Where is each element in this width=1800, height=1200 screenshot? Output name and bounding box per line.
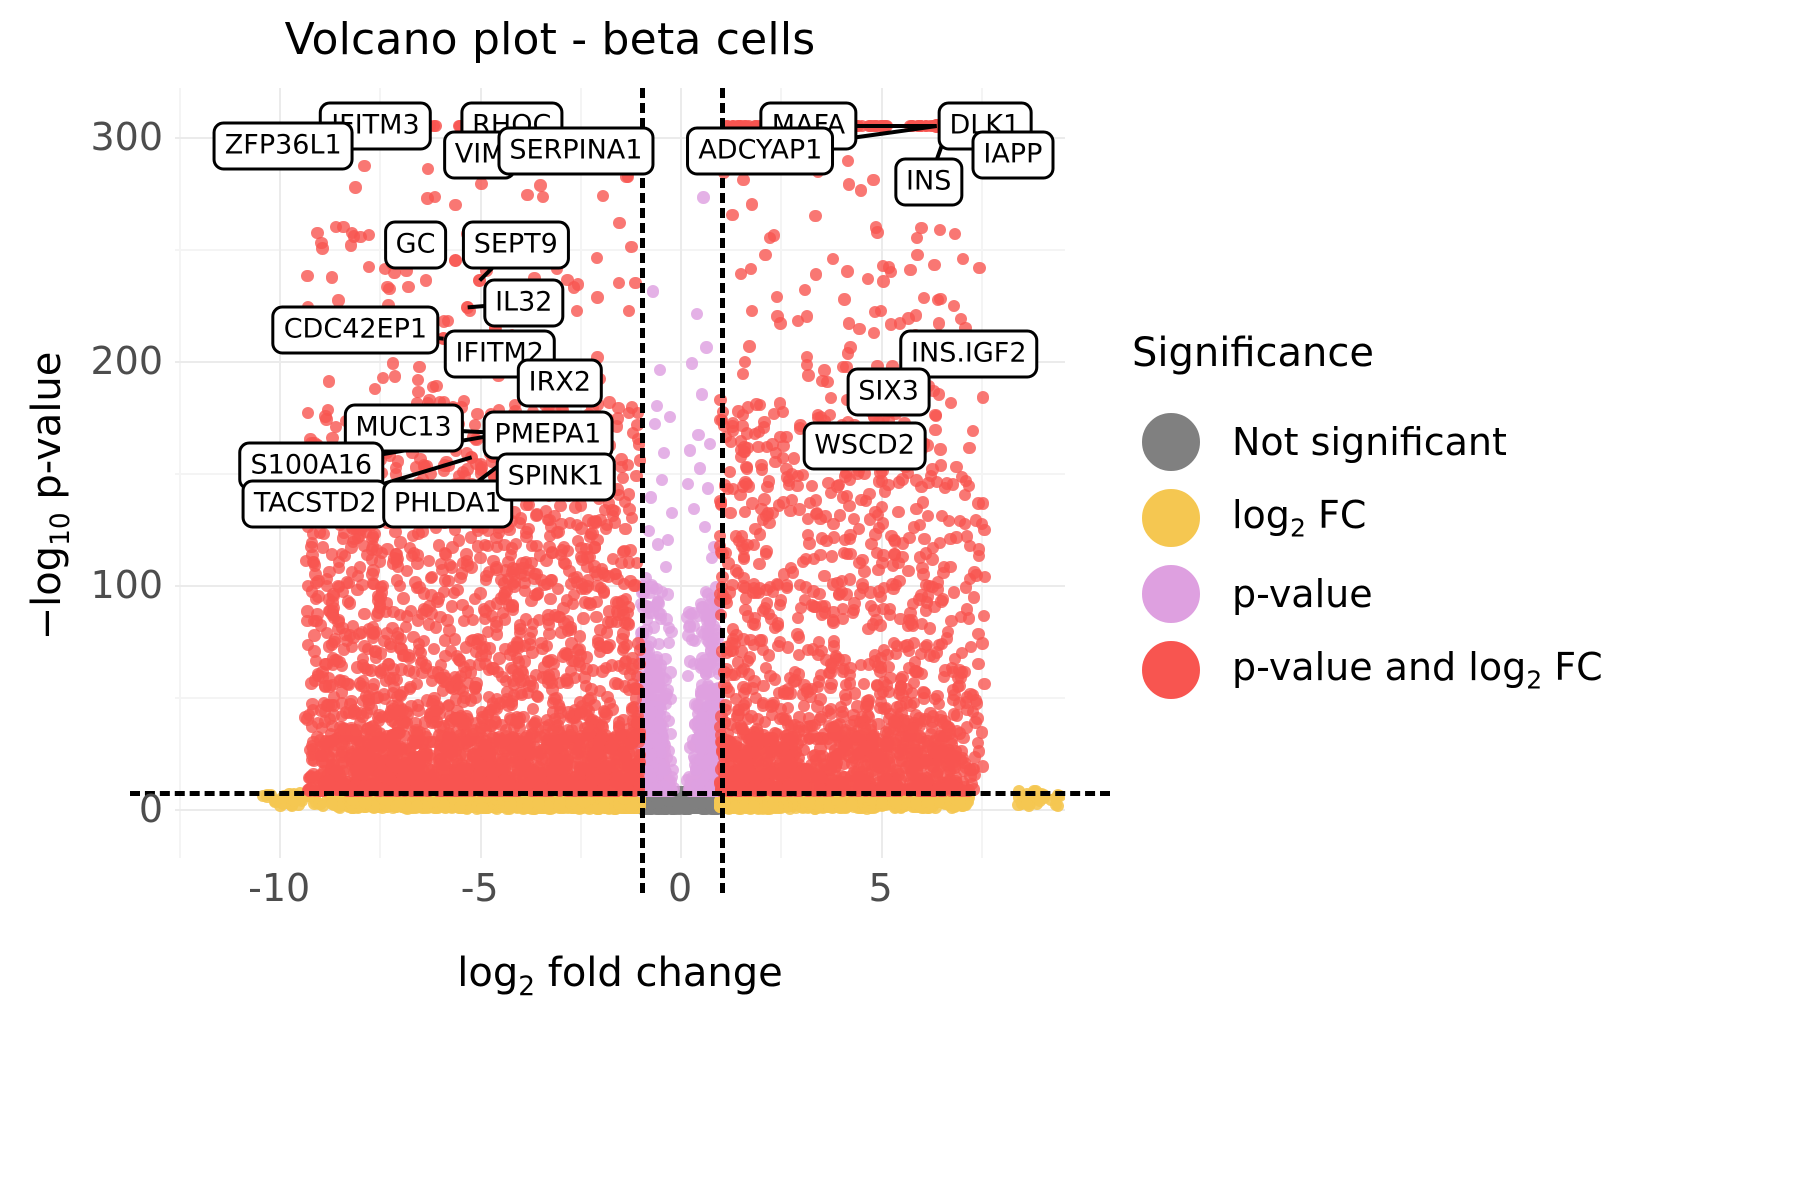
plot-panel bbox=[175, 88, 1065, 858]
gridline bbox=[175, 361, 1065, 363]
data-point bbox=[411, 800, 423, 812]
gridline bbox=[279, 88, 281, 858]
gridline bbox=[680, 88, 682, 858]
page-title: Volcano plot - beta cells bbox=[0, 14, 1100, 65]
data-point bbox=[359, 796, 371, 808]
gridline bbox=[175, 249, 1065, 251]
data-point bbox=[532, 798, 544, 810]
